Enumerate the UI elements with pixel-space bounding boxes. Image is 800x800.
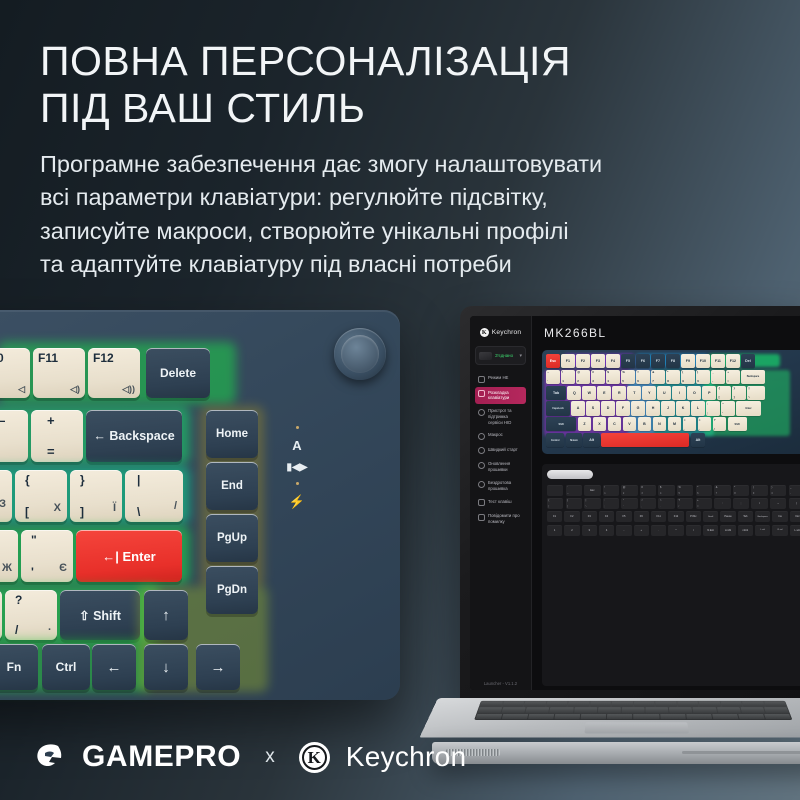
picker-key[interactable]: ; <box>733 498 749 509</box>
vkey[interactable]: (9 <box>681 370 695 384</box>
key[interactable] <box>598 707 621 712</box>
key[interactable] <box>764 714 791 720</box>
vkey[interactable]: F12 <box>726 354 740 368</box>
vkey-base-label: 5 <box>622 379 624 383</box>
sidebar-item-macro[interactable]: Макрос <box>475 429 526 443</box>
picker-key-label: * <box>668 525 683 536</box>
vkey[interactable]: Alt <box>691 433 706 447</box>
vkey-label: C <box>613 422 616 426</box>
vkey[interactable]: D <box>601 401 615 415</box>
key[interactable] <box>478 707 503 712</box>
picker-key-label: PrtSc <box>686 511 701 522</box>
key-cyrillic: / <box>174 500 177 512</box>
key-bracket-right[interactable]: } ] Ї <box>70 470 122 522</box>
key[interactable] <box>764 707 789 712</box>
picker-key[interactable]: #3 <box>640 485 656 496</box>
vkey-label: S <box>592 406 594 410</box>
key[interactable] <box>764 702 787 707</box>
picker-key[interactable]: Scroll <box>703 511 718 522</box>
picker-row: 1234-+.*/N.EntmmNmbt1L ctrlR ctrlL win <box>547 525 800 536</box>
gamepro-wordmark: GAMEPRO <box>82 740 241 774</box>
picker-key[interactable]: :; <box>603 498 619 509</box>
lid-latch-notch <box>682 751 800 754</box>
laptop: K Keychron З'єднано ▾ Режим НЕ Розкладка… <box>432 306 800 786</box>
key-f12[interactable]: F12 ◁)) <box>88 348 140 398</box>
vkey-label: E <box>603 391 605 395</box>
key[interactable] <box>524 702 546 707</box>
vkey-label: CapsLock <box>552 407 563 410</box>
trackpad[interactable] <box>584 722 688 733</box>
key[interactable] <box>717 707 741 712</box>
picker-key-label: F1 <box>547 511 562 522</box>
key[interactable] <box>622 707 645 712</box>
picker-key-base-label: 6 <box>697 492 698 495</box>
picker-key[interactable]: : <box>714 498 730 509</box>
sidebar-item-key-tester[interactable]: Тест клавіш <box>475 496 526 510</box>
vkey[interactable]: Y <box>642 386 656 400</box>
wireless-circle-icon <box>478 481 485 488</box>
picker-key[interactable]: <, <box>640 498 656 509</box>
vkey[interactable]: {[ <box>717 386 731 400</box>
vkey[interactable]: )0 <box>696 370 710 384</box>
picker-key-label: F6 <box>634 511 649 522</box>
picker-key[interactable]: Del <box>790 511 800 522</box>
vkey[interactable]: N <box>653 417 667 431</box>
key-label: F10 <box>0 351 4 365</box>
key-minus[interactable]: — – <box>0 410 28 462</box>
sidebar-item-report-bug[interactable]: Повідомити про помилку <box>475 510 526 528</box>
vkey[interactable]: A <box>571 401 585 415</box>
sidebar-item-hid-services[interactable]: Пристрої та підтримка сервіси HID <box>475 405 526 428</box>
picker-key-base-label: ~ <box>567 492 568 495</box>
key-bracket-left[interactable]: { [ Х <box>15 470 67 522</box>
picker-key-shift-label: ^ <box>697 486 698 489</box>
picker-key-shift-label: & <box>716 486 718 489</box>
vkey[interactable]: >. <box>698 417 712 431</box>
picker-key[interactable]: F12 <box>668 511 683 522</box>
key[interactable] <box>740 707 764 712</box>
picker-key[interactable]: )0 <box>770 485 786 496</box>
picker-key[interactable]: | <box>789 498 800 509</box>
key[interactable] <box>686 714 712 720</box>
picker-key[interactable]: F2 <box>564 511 579 522</box>
vkey[interactable]: C <box>608 417 622 431</box>
vkey-base-label: ` <box>547 379 548 383</box>
vkey[interactable]: Enter <box>736 401 761 415</box>
vkey[interactable]: R <box>612 386 626 400</box>
vkey[interactable]: ?/ <box>713 417 727 431</box>
picker-key[interactable]: Backspace <box>755 511 770 522</box>
picker-key-shift-label: ! <box>604 486 605 489</box>
sidebar-item-wireless-firmware[interactable]: Бездротова прошивка <box>475 477 526 495</box>
key[interactable] <box>738 714 765 720</box>
picker-key[interactable]: F5 <box>616 511 631 522</box>
vkey[interactable]: B <box>638 417 652 431</box>
vkey[interactable]: Z <box>578 417 592 431</box>
picker-key[interactable]: 3 <box>582 525 597 536</box>
vkey[interactable]: F10 <box>696 354 710 368</box>
vkey[interactable]: &7 <box>651 370 665 384</box>
picker-key[interactable]: |\ <box>584 498 600 509</box>
vkey[interactable]: |\ <box>747 386 764 400</box>
picker-key[interactable]: `~ <box>566 485 582 496</box>
vkey[interactable]: CapsLock <box>546 401 570 415</box>
vkey[interactable]: F8 <box>666 354 680 368</box>
key-f11[interactable]: F11 ◁) <box>33 348 85 398</box>
vkey[interactable]: F7 <box>651 354 665 368</box>
vkey[interactable]: H <box>646 401 660 415</box>
key[interactable] <box>475 714 502 720</box>
vkey-base-label: 4 <box>607 379 609 383</box>
vkey-label: P <box>708 391 710 395</box>
sidebar-item-he-mode[interactable]: Режим НЕ <box>475 372 526 386</box>
picker-key[interactable]: R ctrl <box>772 525 787 536</box>
sidebar-item-label: Оновлення прошивки <box>488 461 523 473</box>
vkey[interactable]: Tab <box>546 386 566 400</box>
vkey-label: X <box>598 422 600 426</box>
picker-key-label: / <box>686 525 701 536</box>
key[interactable] <box>693 707 717 712</box>
vkey-shift-label: + <box>727 370 729 374</box>
vkey-base-label: 9 <box>682 379 684 383</box>
vkey-label: N <box>658 422 661 426</box>
key[interactable] <box>568 702 589 707</box>
picker-key[interactable] <box>547 485 563 496</box>
picker-key[interactable]: !1 <box>603 485 619 496</box>
key[interactable] <box>590 702 611 707</box>
vkey[interactable]: @2 <box>576 370 590 384</box>
key-ctrl[interactable]: Ctrl <box>42 644 90 690</box>
vkey[interactable]: += <box>726 370 740 384</box>
device-selector[interactable]: З'єднано ▾ <box>475 346 526 365</box>
key[interactable] <box>502 714 529 720</box>
picker-key[interactable]: / <box>686 525 701 536</box>
keycode-picker-panel[interactable]: `~Esc!1@2#3$4%5^6&7*8(9)0_-{[}]|\:;"'<,>… <box>542 464 800 686</box>
key-f10[interactable]: F10 ◁ <box>0 348 30 398</box>
vkey[interactable]: "' <box>721 401 735 415</box>
picker-key[interactable]: Tab <box>738 511 753 522</box>
picker-key[interactable]: F1 <box>547 511 562 522</box>
vkey-shift-label: ! <box>562 370 563 374</box>
picker-key[interactable]: L win <box>790 525 800 536</box>
vkey[interactable]: F4 <box>606 354 620 368</box>
virtual-keyboard[interactable]: EscF1F2F3F4F5F6F7F8F9F10F11F12Del~`!1@2#… <box>542 350 800 454</box>
vkey[interactable]: E <box>597 386 611 400</box>
rotary-knob[interactable] <box>334 328 386 380</box>
key-equal[interactable]: + = <box>31 410 83 462</box>
vkey-shift-label: : <box>707 402 708 406</box>
vkey-shift-label: & <box>652 370 654 374</box>
picker-key[interactable]: ?/ <box>677 498 693 509</box>
key[interactable] <box>712 714 738 720</box>
key[interactable] <box>612 702 633 707</box>
key-fn[interactable]: Fn <box>0 644 38 690</box>
vkey[interactable]: O <box>687 386 701 400</box>
vkey[interactable]: F1 <box>561 354 575 368</box>
picker-key[interactable]: &7 <box>714 485 730 496</box>
picker-key-label: 3 <box>582 525 597 536</box>
key[interactable] <box>677 702 699 707</box>
device-thumbnail-icon <box>479 352 492 360</box>
chevron-down-icon[interactable]: ▾ <box>519 353 522 359</box>
picker-key[interactable]: Esc <box>584 485 600 496</box>
key-right-shift[interactable]: ⇧ Shift <box>60 590 140 640</box>
vkey[interactable]: P <box>702 386 716 400</box>
vkey-label: F2 <box>581 359 585 363</box>
picker-key[interactable]: }] <box>566 498 582 509</box>
key-enter[interactable]: ←| Enter <box>76 530 182 582</box>
key[interactable] <box>669 707 693 712</box>
picker-key[interactable]: 2 <box>564 525 579 536</box>
vkey-label: F11 <box>715 359 721 363</box>
picker-key[interactable]: Pause <box>720 511 735 522</box>
key[interactable] <box>742 702 764 707</box>
app-brand-label: Keychron <box>492 329 521 336</box>
vkey[interactable]: Sistem <box>566 433 583 447</box>
vkey-shift-label: } <box>734 386 735 390</box>
keychron-monogram: K <box>308 749 321 766</box>
vkey-label: W <box>588 391 591 395</box>
footer-logos: GAMEPRO x K Keychron <box>32 740 466 774</box>
vkey[interactable]: #3 <box>591 370 605 384</box>
picker-key-label: Del <box>790 511 800 522</box>
key[interactable] <box>660 714 686 720</box>
key-slash[interactable]: ? / . <box>5 590 57 640</box>
vkey-shift-label: ? <box>714 418 716 422</box>
key[interactable] <box>655 702 676 707</box>
key[interactable] <box>699 702 721 707</box>
key[interactable] <box>634 702 655 707</box>
vkey-base-label: \ <box>749 395 750 399</box>
vkey-shift-label: " <box>722 402 723 406</box>
picker-key[interactable]: Ins <box>772 511 787 522</box>
picker-key[interactable]: (9 <box>751 485 767 496</box>
vkey[interactable]: F3 <box>591 354 605 368</box>
key-sublabel: ◁) <box>70 384 80 395</box>
picker-key[interactable]: @2 <box>621 485 637 496</box>
vkey[interactable]: V <box>623 417 637 431</box>
picker-key[interactable]: $4 <box>658 485 674 496</box>
vkey[interactable]: F11 <box>711 354 725 368</box>
picker-key-base-label: 4 <box>660 492 661 495</box>
picker-key[interactable]: %5 <box>677 485 693 496</box>
vkey[interactable]: T <box>627 386 641 400</box>
picker-key[interactable]: {[ <box>547 498 563 509</box>
key[interactable] <box>581 714 607 720</box>
sidebar-item-firmware-update[interactable]: Оновлення прошивки <box>475 458 526 476</box>
vkey[interactable]: Shift <box>546 417 576 431</box>
picker-key[interactable]: >. <box>658 498 674 509</box>
vkey[interactable]: F6 <box>636 354 650 368</box>
picker-key[interactable]: ^6 <box>696 485 712 496</box>
key-backslash[interactable]: | \ / <box>125 470 183 522</box>
picker-key-shift-label: ? <box>679 499 680 502</box>
picker-key-base-label: - <box>790 492 791 495</box>
picker-key[interactable]: F3 <box>582 511 597 522</box>
mountain-icon <box>478 376 485 383</box>
key[interactable] <box>607 714 632 720</box>
laptop-base <box>432 698 800 774</box>
page-title: MK266BL <box>544 326 800 340</box>
vkey[interactable]: _- <box>711 370 725 384</box>
key-arrow-right[interactable]: → <box>196 644 240 690</box>
vkey[interactable]: Q <box>567 386 581 400</box>
vkey-label: R <box>618 391 621 395</box>
picker-key[interactable]: mmN <box>720 525 735 536</box>
key-end[interactable]: End <box>206 462 258 510</box>
vkey-label: V <box>628 422 630 426</box>
key[interactable] <box>526 707 550 712</box>
picker-key-label: . <box>651 525 666 536</box>
vkey[interactable]: }] <box>732 386 746 400</box>
picker-key[interactable]: += <box>696 498 712 509</box>
picker-key[interactable]: F4 <box>599 511 614 522</box>
app-version-label: Launcher - V1.1.2 <box>470 681 531 686</box>
picker-key[interactable]: F6 <box>634 511 649 522</box>
vkey[interactable]: Alt <box>583 433 600 447</box>
picker-key[interactable]: _- <box>789 485 800 496</box>
picker-row: {[}]|\:;"'<,>.?/+=:;/~| <box>547 498 800 509</box>
vkey[interactable]: <, <box>683 417 697 431</box>
vkey[interactable]: W <box>582 386 596 400</box>
keyboard-icon <box>478 390 485 397</box>
vkey[interactable]: Del <box>741 354 755 368</box>
vkey[interactable]: *8 <box>666 370 680 384</box>
key[interactable] <box>634 714 659 720</box>
picker-key-base-label: \ <box>586 505 587 508</box>
key-pgup[interactable]: PgUp <box>206 514 258 562</box>
key[interactable] <box>550 707 574 712</box>
sidebar-item-label: Повідомити про помилку <box>488 513 523 525</box>
key-period[interactable]: > . Ю <box>0 590 2 640</box>
vkey[interactable] <box>601 433 689 447</box>
vkey-label: Sistem <box>570 439 578 442</box>
vkey-shift-label: _ <box>712 370 714 374</box>
keyboard-row <box>480 702 786 707</box>
page-subtitle: Програмне забезпечення дає змогу налашто… <box>40 148 780 281</box>
key-delete[interactable]: Delete <box>146 348 210 398</box>
laptop-builtin-keyboard[interactable] <box>474 701 792 720</box>
vkey[interactable]: ^6 <box>636 370 650 384</box>
vkey-label: Control <box>551 439 560 442</box>
picker-key[interactable]: 4 <box>599 525 614 536</box>
vkey[interactable]: Esc <box>546 354 560 368</box>
key-sublabel: ◁)) <box>122 384 135 395</box>
picker-key[interactable]: PrtSc <box>686 511 701 522</box>
key-arrow-up[interactable]: ↑ <box>144 590 188 640</box>
vkey[interactable]: ~` <box>546 370 560 384</box>
vkey[interactable]: F <box>616 401 630 415</box>
vkey[interactable]: M <box>668 417 682 431</box>
picker-key-shift-label: ( <box>753 486 754 489</box>
sidebar-item-label: Тест клавіш <box>488 499 512 505</box>
key[interactable] <box>555 714 581 720</box>
picker-key[interactable]: * <box>668 525 683 536</box>
vkey[interactable]: F2 <box>576 354 590 368</box>
key-p[interactable]: P З <box>0 470 12 522</box>
key-arrow-down[interactable]: ↓ <box>144 644 188 690</box>
vkey[interactable]: K <box>676 401 690 415</box>
sidebar-item-quick-start[interactable]: Швидкий старт <box>475 444 526 458</box>
keyboard-row <box>475 714 791 720</box>
vkey[interactable]: Backspace <box>741 370 765 384</box>
picker-key-shift-label: | <box>586 499 587 502</box>
picker-key-label: N.Ent <box>703 525 718 536</box>
key[interactable] <box>528 714 554 720</box>
picker-key[interactable]: - <box>616 525 631 536</box>
vkey-base-label: = <box>727 379 729 383</box>
vkey-shift-label: ^ <box>637 370 639 374</box>
vkey[interactable]: X <box>593 417 607 431</box>
vkey[interactable]: :; <box>706 401 720 415</box>
sidebar-item-keyboard-layout[interactable]: Розкладка клавіатури <box>475 387 526 405</box>
key[interactable] <box>480 702 503 707</box>
vkey[interactable]: $4 <box>606 370 620 384</box>
picker-key[interactable]: "' <box>621 498 637 509</box>
vkey-shift-label: # <box>592 370 594 374</box>
key[interactable] <box>502 707 526 712</box>
vkey-label: J <box>667 406 669 410</box>
key[interactable] <box>720 702 742 707</box>
picker-key[interactable]: . <box>651 525 666 536</box>
vkey[interactable]: J <box>661 401 675 415</box>
key[interactable] <box>502 702 524 707</box>
picker-key[interactable]: F11 <box>651 511 666 522</box>
vkey[interactable]: S <box>586 401 600 415</box>
vkey[interactable]: Control <box>546 433 564 447</box>
picker-key[interactable]: mbt1 <box>738 525 753 536</box>
collab-x-separator: x <box>265 746 275 768</box>
status-indicators: A ▮◀▶ ⚡ <box>286 420 308 519</box>
picker-key[interactable]: *8 <box>733 485 749 496</box>
key-backspace[interactable]: ← Backspace <box>86 410 182 462</box>
picker-key[interactable]: / <box>751 498 767 509</box>
picker-key[interactable]: 1 <box>547 525 562 536</box>
picker-toggle-pill[interactable] <box>547 470 593 479</box>
key-semicolon[interactable]: : ; Ж <box>0 530 18 582</box>
key[interactable] <box>574 707 597 712</box>
vkey-label: H <box>652 406 655 410</box>
vkey[interactable]: G <box>631 401 645 415</box>
vkey[interactable]: F5 <box>621 354 635 368</box>
picker-key[interactable]: ~ <box>770 498 786 509</box>
key[interactable] <box>645 707 668 712</box>
vkey[interactable]: I <box>672 386 686 400</box>
rocket-circle-icon <box>478 447 485 454</box>
vkey[interactable]: U <box>657 386 671 400</box>
picker-key[interactable]: + <box>634 525 649 536</box>
picker-key-base-label: [ <box>549 505 550 508</box>
picker-key[interactable]: N.Ent <box>703 525 718 536</box>
vkey[interactable]: !1 <box>561 370 575 384</box>
key[interactable] <box>546 702 568 707</box>
vkey[interactable]: Shift <box>728 417 747 431</box>
vkey[interactable]: L <box>691 401 705 415</box>
picker-key-shift-label: % <box>679 486 681 489</box>
picker-key-shift-label: " <box>623 499 624 502</box>
picker-key[interactable]: L ctrl <box>755 525 770 536</box>
key-quote[interactable]: " ' Є <box>21 530 73 582</box>
vkey-label: K <box>682 406 685 410</box>
key-sublabel: \ <box>137 505 140 519</box>
grid-icon <box>478 499 485 506</box>
vkey[interactable]: %5 <box>621 370 635 384</box>
key-sublabel: [ <box>25 505 29 519</box>
key-home[interactable]: Home <box>206 410 258 458</box>
vkey[interactable]: F9 <box>681 354 695 368</box>
key-arrow-left[interactable]: ← <box>92 644 136 690</box>
key-pgdn[interactable]: PgDn <box>206 566 258 614</box>
